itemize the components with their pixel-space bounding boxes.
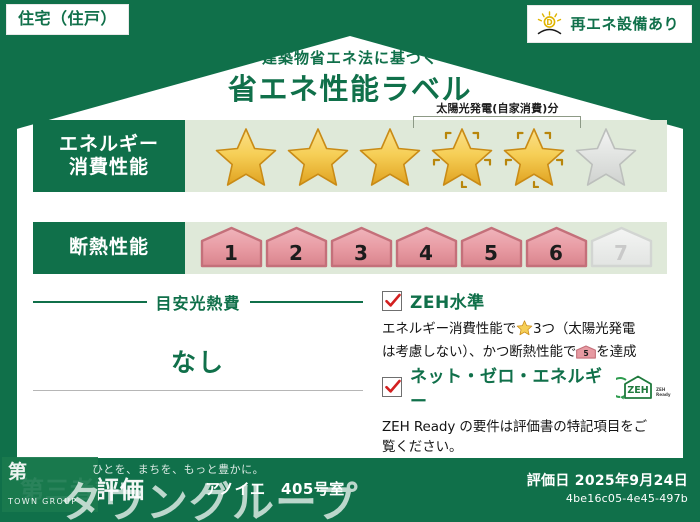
solar-annotation-text: 太陽光発電(自家消費)分 [410, 100, 585, 116]
building-type-tag: 住宅（住戸） [6, 4, 129, 35]
zeh-standard-description: エネルギー消費性能で 3つ（太陽光発電 は考慮しない）、かつ断熱性能で 5 を達… [382, 319, 672, 366]
insulation-level-6-value: 6 [549, 241, 563, 265]
mini-star-icon [516, 319, 533, 343]
net-zero-desc-line2: 覧ください。 [382, 439, 462, 455]
star-filled-3 [356, 124, 424, 188]
insulation-level-2: 2 [265, 226, 328, 268]
insulation-levels-panel: 1 2 3 4 [185, 222, 667, 274]
svg-text:Ready: Ready [656, 392, 671, 397]
insulation-level-7: 7 [590, 226, 653, 268]
insulation-level-1: 1 [200, 226, 263, 268]
zeh-standard-title: ZEH水準 [410, 288, 485, 313]
energy-performance-label: エネルギー 消費性能 [33, 120, 185, 192]
energy-label-line1: エネルギー [59, 133, 159, 156]
zeh-standard-block: ZEH水準 エネルギー消費性能で 3つ（太陽光発電 は考慮しない）、かつ断熱性能… [382, 288, 672, 366]
insulation-level-4: 4 [395, 226, 458, 268]
insulation-level-scale: 1 2 3 4 [200, 226, 653, 270]
insulation-level-7-value: 7 [614, 241, 628, 265]
energy-stars-panel: 太陽光発電(自家消費)分 [185, 120, 667, 192]
insulation-level-6: 6 [525, 226, 588, 268]
footer-meta: 評価日 2025年9月24日 4be16c05-4e45-497b [527, 470, 688, 505]
zeh-desc-part2: は考慮しない）、かつ断熱性能で [382, 344, 576, 360]
star-filled-solar-5 [500, 124, 568, 188]
insulation-performance-row: 断熱性能 1 2 3 [33, 222, 667, 274]
insulation-level-5-value: 5 [484, 241, 498, 265]
svg-text:D: D [547, 18, 553, 27]
zeh-desc-part3: を達成 [596, 344, 636, 360]
insulation-level-2-value: 2 [289, 241, 303, 265]
energy-performance-row: エネルギー 消費性能 太陽光発電(自家消費)分 [33, 120, 667, 192]
net-zero-title: ネット・ゼロ・エネルギー [410, 362, 604, 412]
star-filled-2 [284, 124, 352, 188]
insulation-level-4-value: 4 [419, 241, 433, 265]
svg-text:5: 5 [584, 349, 589, 358]
utility-cost-heading-row: 目安光熱費 [33, 290, 363, 314]
insulation-level-3-value: 3 [354, 241, 368, 265]
insulation-level-5: 5 [460, 226, 523, 268]
utility-cost-block: 目安光熱費 なし [33, 290, 363, 379]
utility-cost-heading: 目安光熱費 [156, 290, 241, 314]
zeh-desc-part1: エネルギー消費性能で [382, 321, 516, 337]
label-subtitle: 建築物省エネ法に基づく [0, 47, 700, 68]
utility-cost-bottom-rule [33, 390, 363, 391]
insulation-performance-label: 断熱性能 [33, 222, 185, 274]
zeh-ready-logo: ZEH ZEH Ready [616, 374, 672, 400]
star-empty-6 [572, 124, 640, 188]
label-title: 省エネ性能ラベル [0, 66, 700, 108]
evaluation-date: 評価日 2025年9月24日 [527, 470, 688, 490]
net-zero-heading: ネット・ゼロ・エネルギー ZEH ZEH Ready [382, 362, 672, 412]
sun-icon: D [536, 11, 563, 36]
zeh-standard-heading: ZEH水準 [382, 288, 672, 313]
renewable-badge-label: 再エネ設備あり [570, 13, 679, 34]
third-party-evaluation-text: 第三者評価 [20, 470, 145, 505]
insulation-level-3: 3 [330, 226, 393, 268]
energy-label-line2: 消費性能 [69, 156, 149, 179]
evaluation-uid: 4be16c05-4e45-497b [527, 492, 688, 505]
star-filled-solar-4 [428, 124, 496, 188]
net-zero-description: ZEH Ready の要件は評価書の特記項目をご 覧ください。 [382, 418, 672, 457]
star-rating [206, 124, 646, 188]
utility-cost-value: なし [33, 343, 363, 379]
svg-text:ZEH: ZEH [627, 385, 648, 396]
rule-right [250, 301, 364, 303]
net-zero-checkbox[interactable] [382, 377, 402, 397]
star-filled-1 [212, 124, 280, 188]
renewable-energy-badge: D 再エネ設備あり [527, 5, 692, 43]
rule-left [33, 301, 147, 303]
zeh-standard-checkbox[interactable] [382, 291, 402, 311]
zeh-desc-stars: 3つ（太陽光発電 [533, 321, 635, 337]
insulation-level-1-value: 1 [224, 241, 238, 265]
net-zero-desc-line1: ZEH Ready の要件は評価書の特記項目をご [382, 419, 647, 435]
property-name: アノイエ 405号室 [205, 478, 345, 499]
net-zero-energy-block: ネット・ゼロ・エネルギー ZEH ZEH Ready ZEH Ready の要件… [382, 362, 672, 457]
energy-performance-label: 住宅（住戸） D 再エネ設備あり 建築物省エネ法に基づく 省エネ性能ラベル [0, 0, 700, 522]
